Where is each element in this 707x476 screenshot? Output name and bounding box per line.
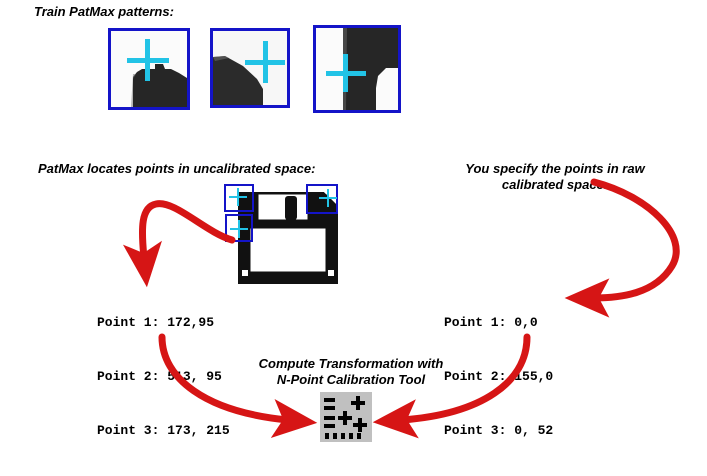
- pattern-image-1: [111, 31, 187, 107]
- roi-point-2[interactable]: [306, 184, 338, 214]
- list-item: Point 3: 0, 52: [444, 422, 553, 440]
- heading-compute-transformation: Compute Transformation with N-Point Cali…: [248, 356, 454, 388]
- heading-patmax-locates: PatMax locates points in uncalibrated sp…: [38, 161, 315, 177]
- calibration-target-image[interactable]: [320, 392, 372, 442]
- heading-compute-line-2: N-Point Calibration Tool: [277, 372, 425, 387]
- list-item: Point 2: 513, 95: [97, 368, 230, 386]
- arrow-heading-to-calibrated-points: [594, 182, 676, 298]
- list-item: Point 1: 172,95: [97, 314, 230, 332]
- crosshair-icon: [319, 189, 337, 207]
- pattern-thumbnail-3[interactable]: [313, 25, 401, 113]
- arrow-image-to-uncalibrated-points: [142, 204, 232, 258]
- roi-point-3[interactable]: [225, 214, 253, 242]
- roi-point-1[interactable]: [224, 184, 254, 212]
- heading-compute-line-1: Compute Transformation with: [259, 356, 444, 371]
- uncalibrated-point-list: Point 1: 172,95 Point 2: 513, 95 Point 3…: [97, 278, 230, 476]
- crosshair-icon: [229, 188, 247, 206]
- calibration-target-graphic: [320, 392, 372, 442]
- diagram-canvas: Train PatMax patterns: PatMax locates po…: [0, 0, 707, 470]
- pattern-image-2: [213, 31, 287, 105]
- crosshair-icon: [230, 220, 248, 238]
- list-item: Point 3: 173, 215: [97, 422, 230, 440]
- list-item: Point 1: 0,0: [444, 314, 553, 332]
- pattern-thumbnail-1[interactable]: [108, 28, 190, 110]
- list-item: Point 2: 155,0: [444, 368, 553, 386]
- heading-train-patterns: Train PatMax patterns:: [34, 4, 174, 20]
- floppy-disk-image[interactable]: [228, 186, 348, 290]
- pattern-image-3: [316, 28, 398, 110]
- calibrated-point-list: Point 1: 0,0 Point 2: 155,0 Point 3: 0, …: [444, 278, 553, 476]
- pattern-thumbnail-2[interactable]: [210, 28, 290, 108]
- heading-you-specify: You specify the points in raw calibrated…: [455, 161, 655, 193]
